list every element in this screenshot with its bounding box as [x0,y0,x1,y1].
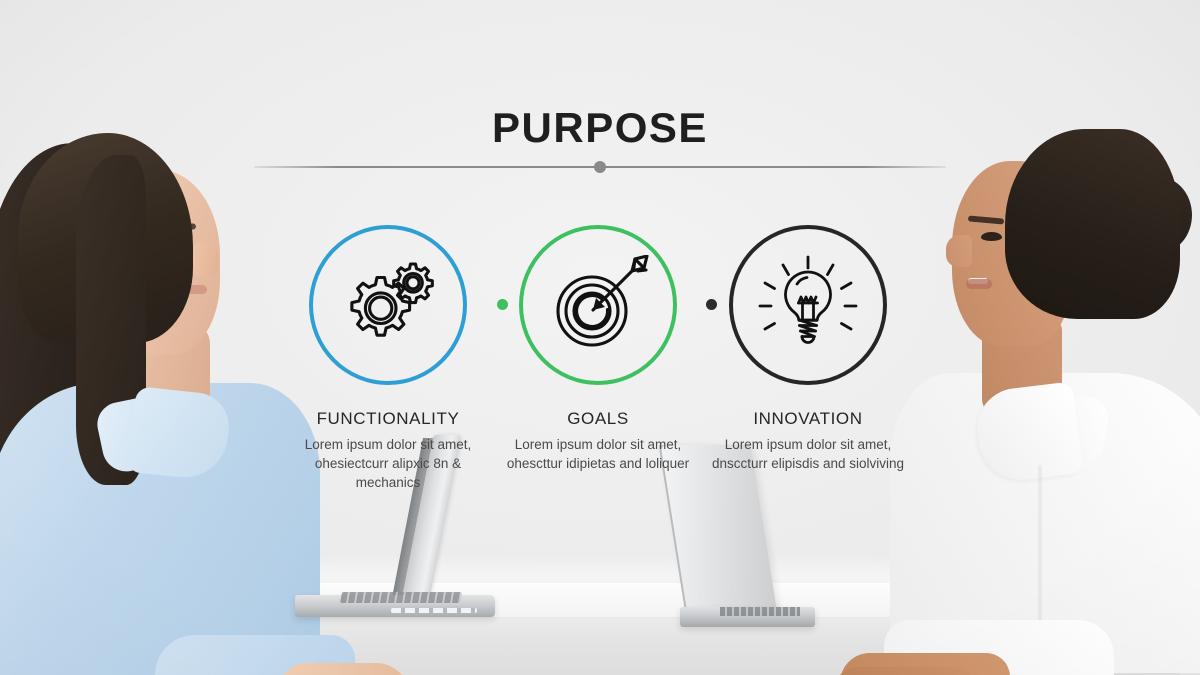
title-divider [254,160,946,174]
card-functionality-description: Lorem ipsum dolor sit amet, ohesiectcurr… [288,435,488,492]
infographic-cards: FUNCTIONALITY Lorem ipsum dolor sit amet… [0,225,1200,515]
card-functionality-ring [309,225,467,385]
card-functionality-title: FUNCTIONALITY [288,409,488,429]
card-goals-description: Lorem ipsum dolor sit amet, ohescttur id… [498,435,698,473]
card-goals-ring [519,225,677,385]
card-innovation-title: INNOVATION [708,409,908,429]
card-innovation-description: Lorem ipsum dolor sit amet, dnsccturr el… [708,435,908,473]
lightbulb-icon [756,253,860,357]
page-title: PURPOSE [0,104,1200,152]
divider-center-dot [594,161,606,173]
card-goals-title: GOALS [498,409,698,429]
presentation-slide: PURPOSE [0,0,1200,675]
card-innovation-ring [729,225,887,385]
card-goals[interactable]: GOALS Lorem ipsum dolor sit amet, ohesct… [498,225,698,473]
target-arrow-icon [546,255,650,355]
gears-icon [336,257,440,353]
card-functionality[interactable]: FUNCTIONALITY Lorem ipsum dolor sit amet… [288,225,488,492]
slide-content: PURPOSE [0,0,1200,675]
card-innovation[interactable]: INNOVATION Lorem ipsum dolor sit amet, d… [708,225,908,473]
